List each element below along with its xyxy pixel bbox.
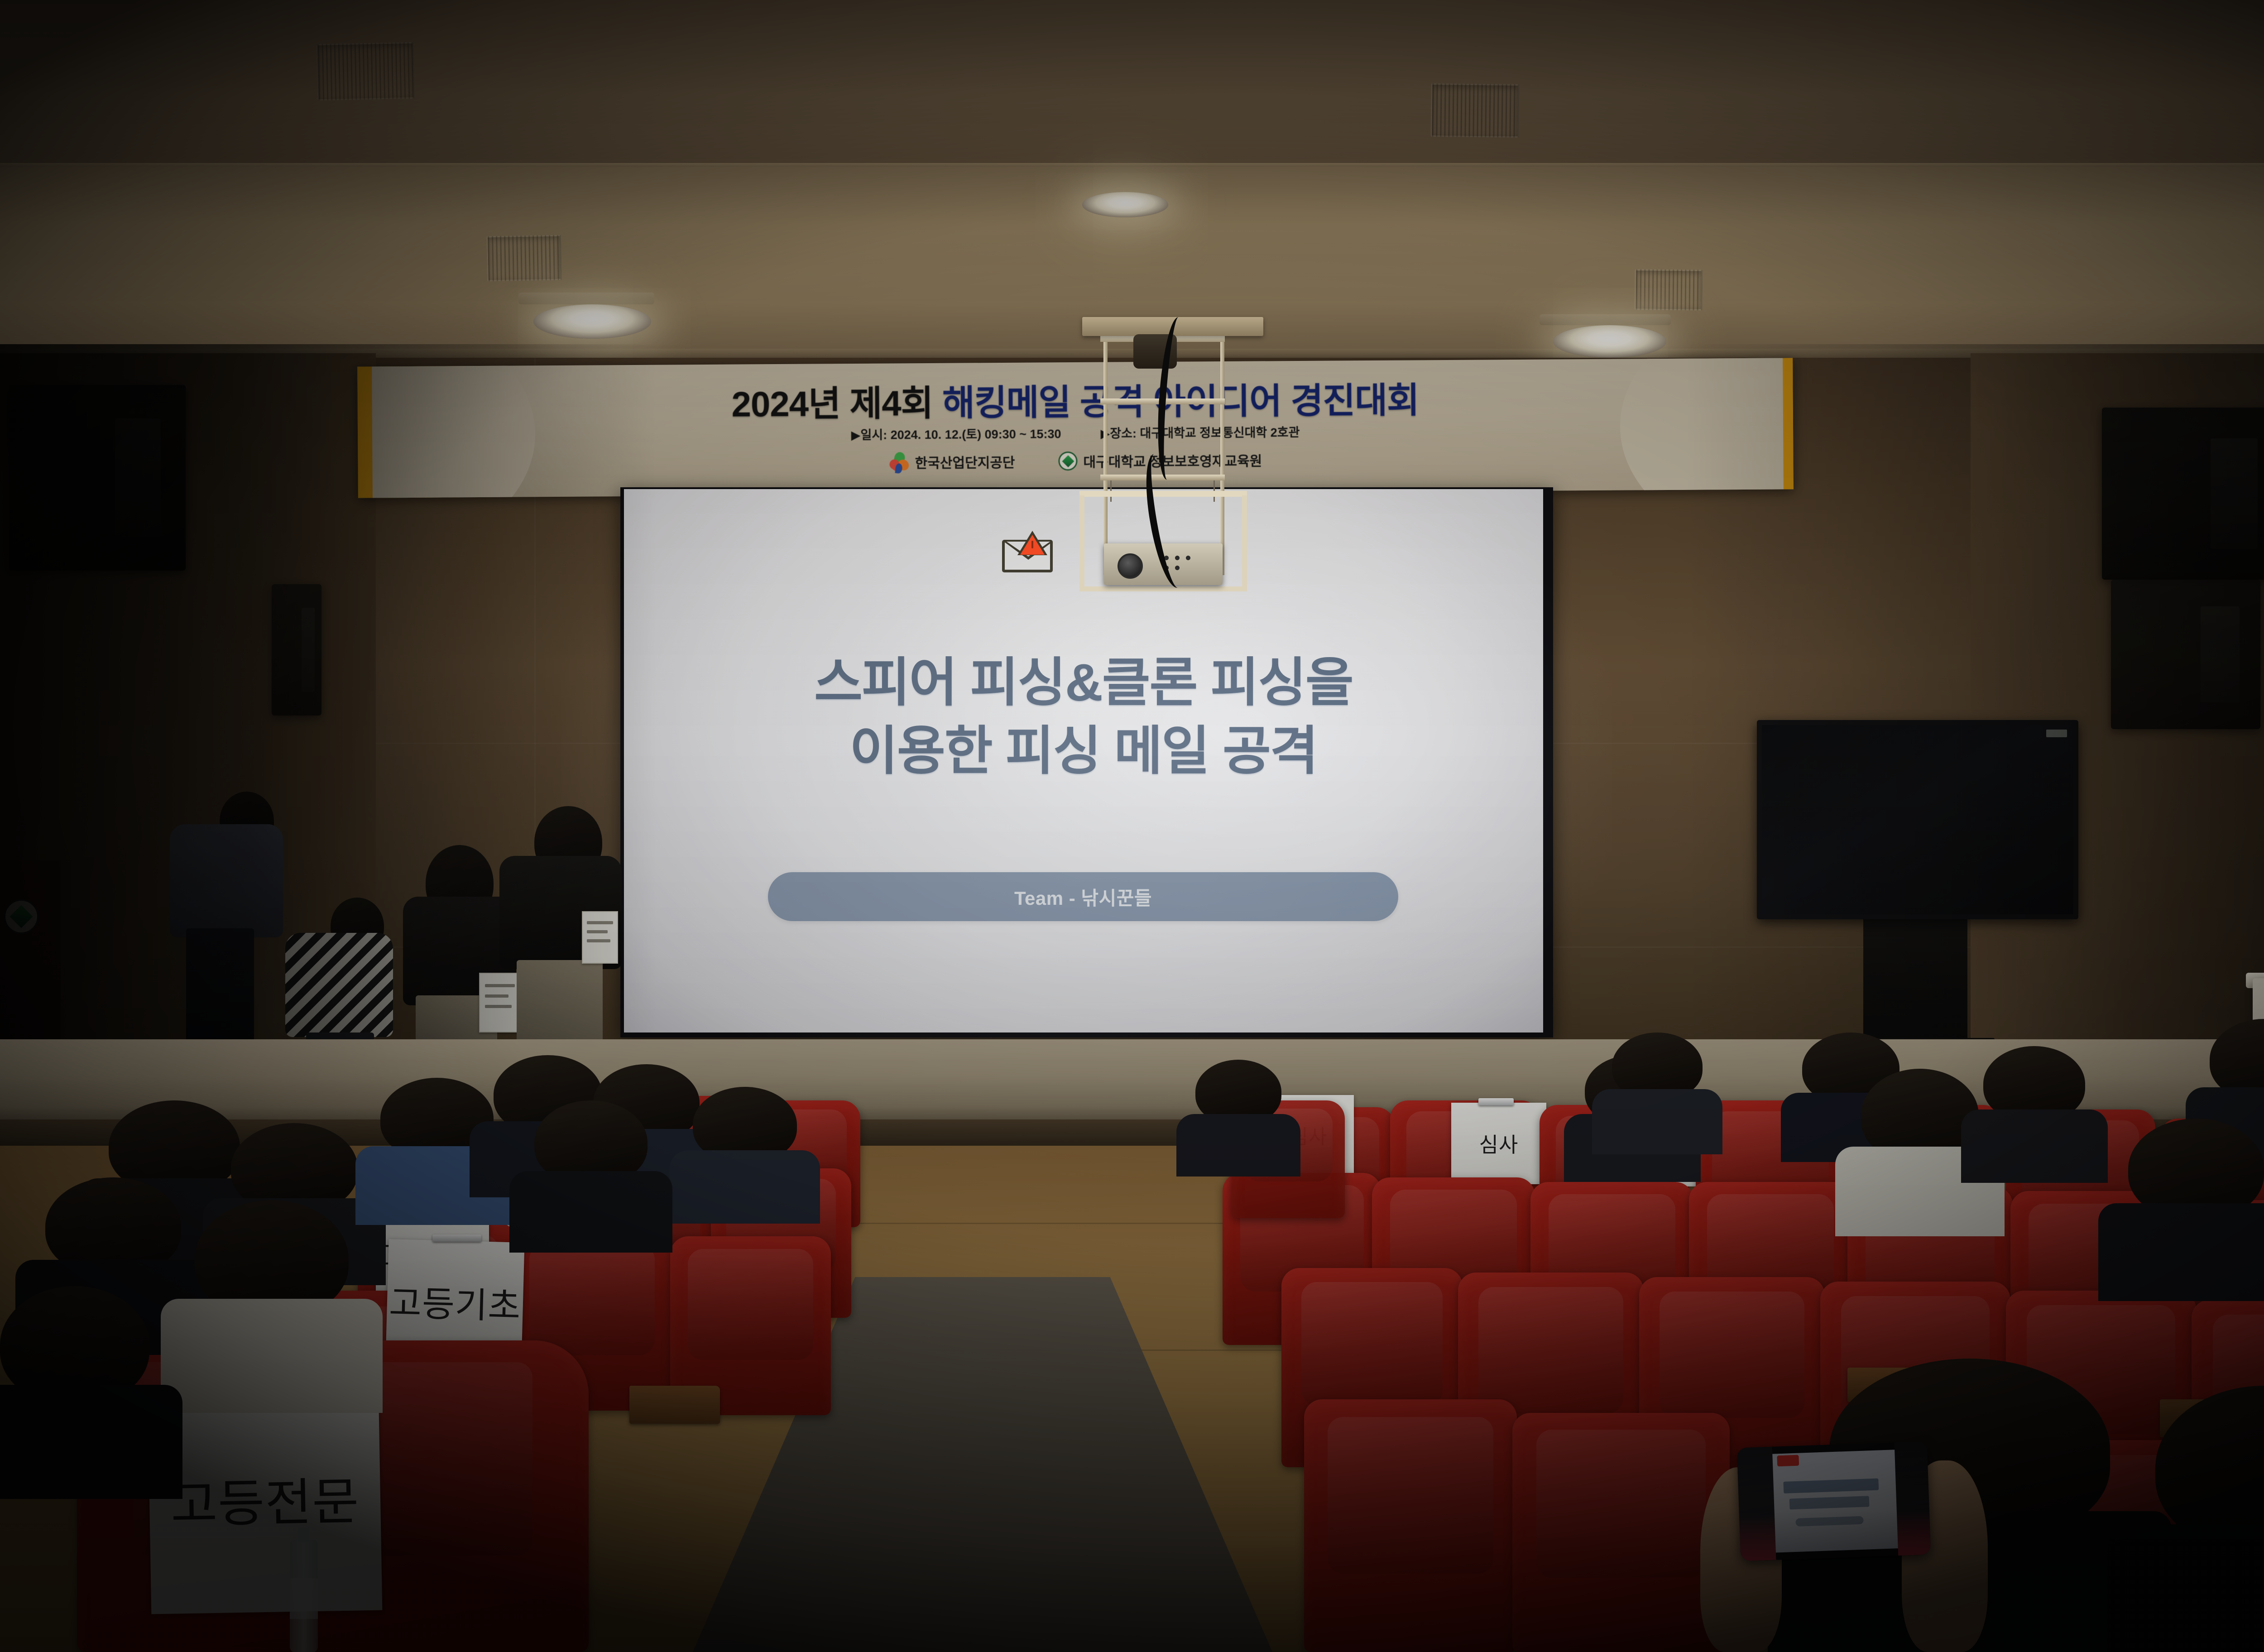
downlight-trim	[518, 293, 654, 304]
seat-armrest	[629, 1386, 720, 1424]
hvac-vent-icon	[486, 235, 562, 282]
wall-speaker-icon	[9, 385, 186, 571]
audience-member	[1195, 1060, 1281, 1164]
banner-date-text: ▶일시: 2024. 10. 12.(토) 09:30 ~ 15:30	[851, 427, 1061, 442]
audience-member	[693, 1087, 797, 1209]
auditorium-seat[interactable]	[1512, 1413, 1730, 1652]
slide-team-label: Team - 낚시꾼들	[1014, 883, 1152, 911]
kicox-pinwheel-logo-icon	[889, 452, 909, 472]
smartphone-recording[interactable]	[1737, 1441, 1931, 1561]
wall-speaker-icon	[272, 584, 321, 716]
phone-bezel-left	[1737, 1447, 1776, 1561]
stage-presenter	[491, 797, 636, 1078]
auditorium-scene: 2024년 제4회 해킹메일 공격 아이디어 경진대회 ▶일시: 2024. 1…	[0, 0, 2264, 1652]
auditorium-seat[interactable]	[1304, 1399, 1517, 1652]
slide-title-line-2: 이용한 피싱 메일 공격	[624, 717, 1543, 785]
banner-title-black: 2024년 제4회	[731, 383, 933, 424]
audience-member	[0, 1286, 149, 1476]
hvac-vent-icon	[317, 42, 415, 101]
recessed-downlight-icon	[1553, 325, 1666, 358]
event-banner: 2024년 제4회 해킹메일 공격 아이디어 경진대회 ▶일시: 2024. 1…	[357, 358, 1794, 498]
tv-stand-neck	[1863, 919, 1967, 1042]
banner-venue-text: ▶장소: 대구대학교 정보통신대학 2호관	[1100, 426, 1300, 441]
seat-sign: 심사	[1451, 1103, 1546, 1184]
seat-sign-label: 고등전문	[170, 1460, 360, 1537]
sign-clip-icon	[432, 1234, 481, 1242]
hvac-vent-icon	[1635, 269, 1703, 310]
banner-title: 2024년 제4회 해킹메일 공격 아이디어 경진대회	[357, 370, 1793, 429]
daegu-university-seal-logo-icon	[1058, 451, 1077, 471]
slide-title-line-1: 스피어 피싱&클론 피싱을	[624, 648, 1543, 717]
slide-title: 스피어 피싱&클론 피싱을 이용한 피싱 메일 공격	[624, 648, 1543, 785]
audience-member	[534, 1100, 648, 1236]
sponsor-kicox-label: 한국산업단지공단	[915, 451, 1015, 472]
tv-brand-badge	[2046, 730, 2067, 737]
water-bottle	[290, 1540, 318, 1652]
envelope-warning-icon	[1002, 531, 1056, 572]
downlight-trim	[1540, 314, 1671, 325]
projector-lens-icon	[1118, 553, 1143, 579]
wall-speaker-icon	[2102, 408, 2264, 580]
seat-sign-label: 고등기초	[389, 1275, 522, 1329]
recessed-downlight-icon	[1082, 192, 1168, 217]
presenter-badge	[582, 911, 618, 964]
hvac-vent-icon	[1430, 83, 1519, 138]
audience-member	[1612, 1032, 1703, 1141]
slide-team-pill: Team - 낚시꾼들	[768, 872, 1398, 921]
audience-member	[1983, 1046, 2085, 1168]
recessed-downlight-icon	[533, 304, 651, 339]
audience-member	[195, 1200, 349, 1390]
wall-speaker-icon	[2111, 580, 2260, 729]
record-indicator-icon	[1777, 1455, 1799, 1467]
banner-sponsor-row: 한국산업단지공단 대구대학교 정보보호영재교육원	[358, 447, 1793, 475]
audience-member	[2128, 1119, 2264, 1282]
audience-member	[2155, 1386, 2264, 1652]
sign-clip-icon	[1478, 1098, 1514, 1105]
phone-bezel-right	[1895, 1441, 1931, 1556]
daegu-university-seal-icon	[4, 899, 39, 934]
sponsor-kicox: 한국산업단지공단	[889, 451, 1015, 472]
wall-tv-monitor	[1757, 720, 2078, 919]
seat-sign: 고등전문	[148, 1384, 383, 1614]
seat-sign-label: 심사	[1479, 1129, 1519, 1158]
